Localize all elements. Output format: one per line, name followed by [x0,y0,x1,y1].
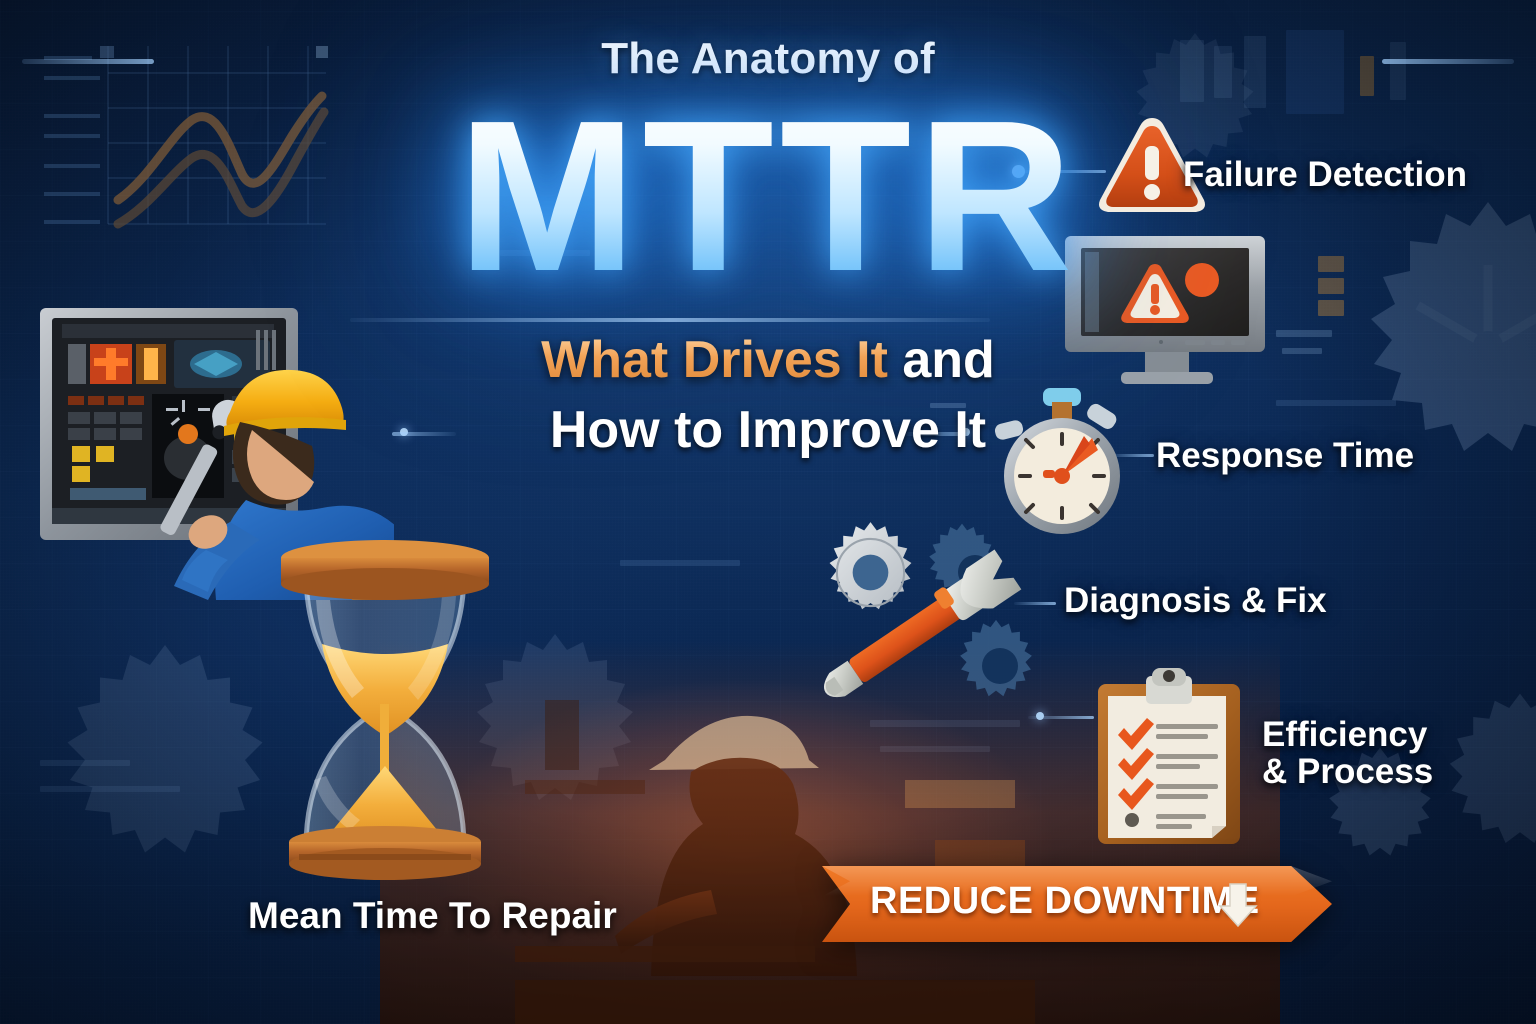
page-title: MTTR [0,88,1536,303]
background-gear-bottom-left [40,640,290,890]
page-title-text: MTTR [457,88,1078,303]
feature-label-efficiency-process: Efficiency & Process [1262,716,1433,790]
hud-line [620,560,740,566]
feature-label-response-time: Response Time [1156,437,1414,474]
wrench-gears-icon [800,512,1062,712]
background-gear-right-low [1430,690,1536,870]
clipboard-checklist-icon [1092,662,1246,848]
subtitle-line-1: What Drives It and [0,330,1536,390]
stopwatch-icon [986,366,1144,536]
title-underline [350,318,990,322]
hourglass-icon [266,536,504,884]
subtitle-rest-text: and [888,331,995,389]
hourglass-caption: Mean Time To Repair [248,895,617,937]
banner-label: REDUCE DOWNTIME [870,880,1260,923]
hud-line [40,786,180,792]
infographic-canvas: The Anatomy of MTTR What Drives It and H… [0,0,1536,1024]
feature-label-failure-detection: Failure Detection [1183,156,1467,193]
subtitle-accent-text: What Drives It [541,331,888,389]
eyebrow-rule-right [1382,59,1514,64]
subtitle-line2-text: How to Improve It [550,401,986,459]
feature-label-diagnosis-fix: Diagnosis & Fix [1064,582,1327,619]
factory-worker-silhouette [515,660,1035,1024]
connector-line [1028,716,1094,719]
hud-line [40,760,130,766]
eyebrow-rule-left [22,59,154,64]
connector-dot [1036,712,1044,720]
down-arrow-icon [1216,882,1260,928]
reduce-downtime-banner[interactable]: REDUCE DOWNTIME [822,866,1332,942]
